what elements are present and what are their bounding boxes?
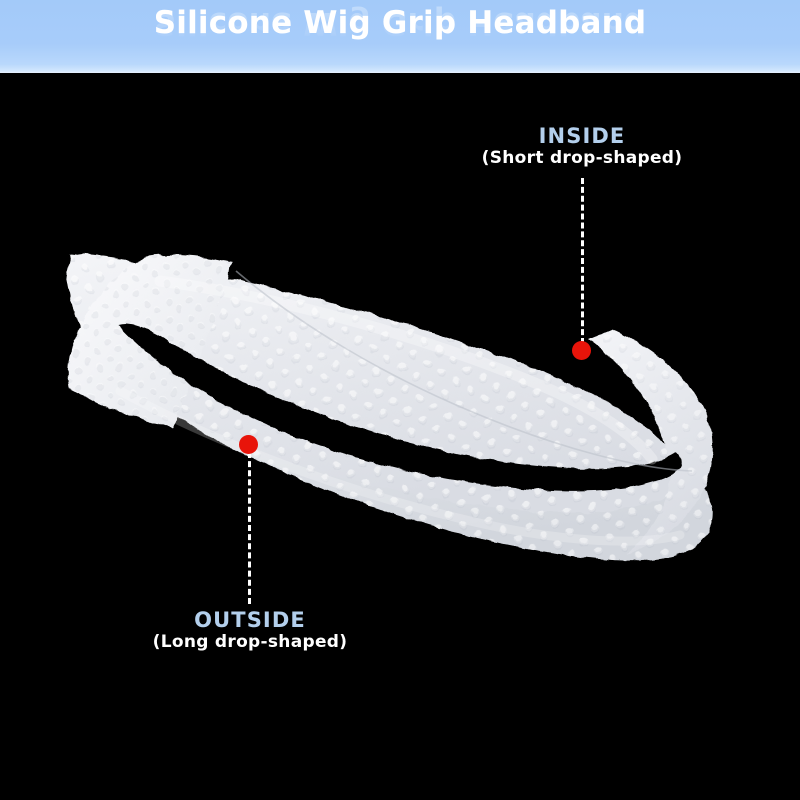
marker-dot-outside bbox=[239, 435, 258, 454]
callout-inside-subtitle: (Short drop-shaped) bbox=[382, 148, 782, 169]
callout-inside: INSIDE (Short drop-shaped) bbox=[382, 124, 782, 169]
header-banner: Silicone Wig Grip Headband Silicone Wig … bbox=[0, 0, 800, 73]
product-infographic: Silicone Wig Grip Headband Silicone Wig … bbox=[0, 0, 800, 800]
marker-dot-inside bbox=[572, 341, 591, 360]
page-title: Silicone Wig Grip Headband bbox=[0, 4, 800, 42]
callout-inside-title: INSIDE bbox=[382, 124, 782, 148]
callout-outside-title: OUTSIDE bbox=[50, 608, 450, 632]
leader-line-outside bbox=[248, 452, 251, 604]
leader-line-inside bbox=[581, 178, 584, 344]
footer-note: Wear them with the long drop-shaped outs… bbox=[0, 730, 800, 800]
callout-outside: OUTSIDE (Long drop-shaped) bbox=[50, 608, 450, 653]
callout-outside-subtitle: (Long drop-shaped) bbox=[50, 632, 450, 653]
